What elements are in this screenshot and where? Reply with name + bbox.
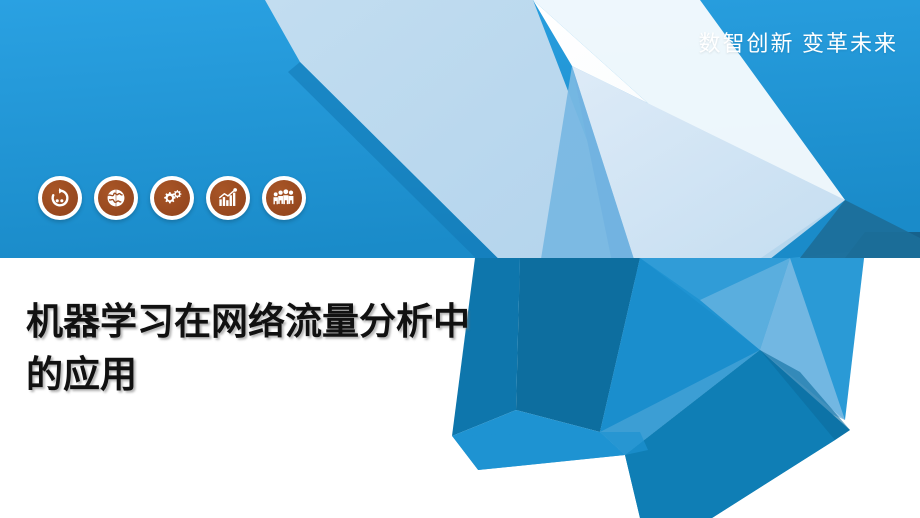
slide-title-line-1: 机器学习在网络流量分析中 <box>26 296 546 349</box>
badge-gears[interactable] <box>150 176 194 220</box>
badge-refresh-cycle[interactable] <box>38 176 82 220</box>
badge-people-group[interactable] <box>262 176 306 220</box>
polygonal-background <box>0 0 920 518</box>
badge-fill <box>98 180 134 216</box>
refresh-cycle-icon <box>49 187 71 209</box>
people-group-icon <box>272 186 296 210</box>
slide-title-line-2: 的应用 <box>26 349 546 402</box>
badge-bar-chart[interactable] <box>206 176 250 220</box>
presentation-title-slide: 数智创新 变革未来 <box>0 0 920 518</box>
badge-fill <box>154 180 190 216</box>
bar-chart-icon <box>217 187 239 209</box>
badge-fill <box>266 180 302 216</box>
gears-icon <box>161 187 184 210</box>
badge-fill <box>42 180 78 216</box>
icon-badge-row <box>38 176 306 220</box>
slide-tagline: 数智创新 变革未来 <box>698 26 898 58</box>
globe-icon <box>105 187 127 209</box>
badge-fill <box>210 180 246 216</box>
slide-title: 机器学习在网络流量分析中 的应用 <box>26 296 546 401</box>
badge-globe[interactable] <box>94 176 138 220</box>
